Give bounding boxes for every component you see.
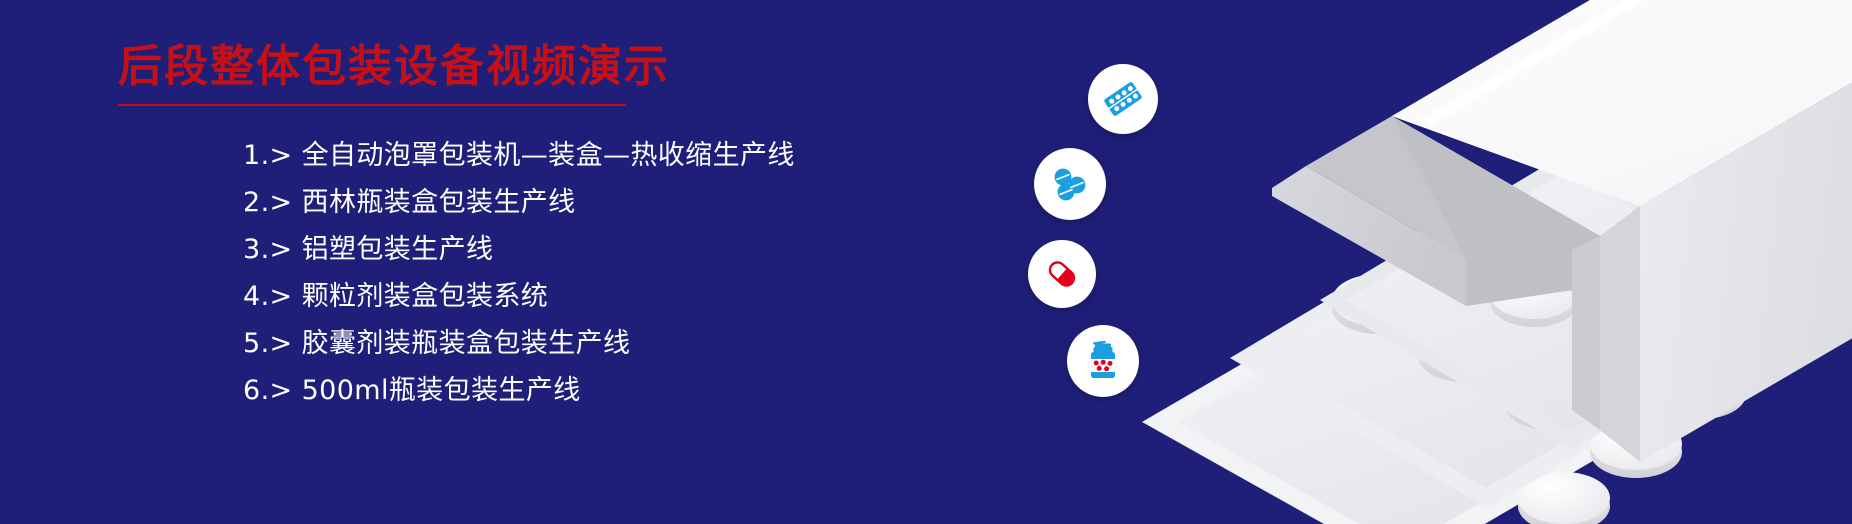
round-pills-icon: [1034, 148, 1106, 220]
list-item[interactable]: 5.> 胶囊剂装瓶装盒包装生产线: [243, 320, 795, 367]
list-item[interactable]: 1.> 全自动泡罩包装机—装盒—热收缩生产线: [243, 132, 795, 179]
page-title: 后段整体包装设备视频演示: [118, 42, 670, 93]
list-item[interactable]: 4.> 颗粒剂装盒包装系统: [243, 273, 795, 320]
text-block: 后段整体包装设备视频演示 1.> 全自动泡罩包装机—装盒—热收缩生产线 2.> …: [0, 0, 1000, 524]
title-underline: [118, 104, 626, 106]
list-item[interactable]: 3.> 铝塑包装生产线: [243, 226, 795, 273]
pharmaceutical-carton-with-blister-packs: [1120, 0, 1852, 524]
list-item[interactable]: 6.> 500ml瓶装包装生产线: [243, 367, 795, 414]
promo-banner: 后段整体包装设备视频演示 1.> 全自动泡罩包装机—装盒—热收缩生产线 2.> …: [0, 0, 1852, 524]
capsule-icon: [1028, 240, 1096, 308]
feature-list: 1.> 全自动泡罩包装机—装盒—热收缩生产线 2.> 西林瓶装盒包装生产线 3.…: [243, 132, 795, 414]
list-item[interactable]: 2.> 西林瓶装盒包装生产线: [243, 179, 795, 226]
